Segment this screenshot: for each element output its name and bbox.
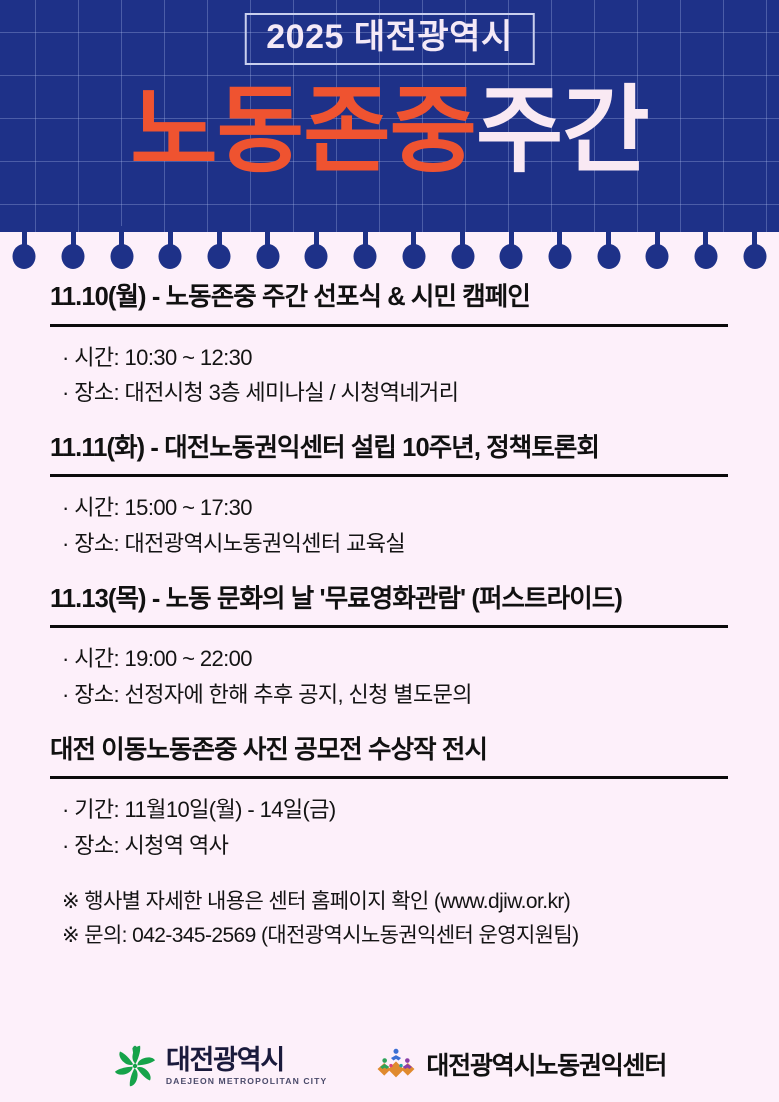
detail-line: · 장소: 시청역 역사 bbox=[62, 828, 779, 864]
divider bbox=[50, 625, 728, 628]
daejeon-logo-kr: 대전광역시 bbox=[166, 1047, 328, 1074]
divider bbox=[50, 474, 728, 477]
footnote-contact: ※ 문의: 042-345-2569 (대전광역시노동권익센터 운영지원팀) bbox=[62, 919, 779, 953]
schedule-heading: 11.11(화) - 대전노동권익센터 설립 10주년, 정책토론회 bbox=[50, 433, 779, 464]
detail-line: · 시간: 15:00 ~ 17:30 bbox=[62, 490, 779, 526]
schedule-block: 11.10(월) - 노동존중 주간 선포식 & 시민 캠페인 · 시간: 10… bbox=[0, 282, 779, 411]
daejeon-city-logo: 대전광역시 DAEJEON METROPOLITAN CITY bbox=[113, 1044, 328, 1088]
schedule-details: · 시간: 15:00 ~ 17:30 · 장소: 대전광역시노동권익센터 교육… bbox=[62, 490, 779, 561]
daejeon-logo-text: 대전광역시 DAEJEON METROPOLITAN CITY bbox=[166, 1047, 328, 1086]
footnote-website: ※ 행사별 자세한 내용은 센터 홈페이지 확인 (www.djiw.or.kr… bbox=[62, 885, 779, 919]
poster-header: 2025 대전광역시 노동존중주간 bbox=[0, 0, 779, 232]
daejeon-logo-en: DAEJEON METROPOLITAN CITY bbox=[166, 1077, 328, 1086]
detail-line: · 장소: 대전광역시노동권익센터 교육실 bbox=[62, 526, 779, 562]
schedule-details: · 시간: 19:00 ~ 22:00 · 장소: 선정자에 한해 추후 공지,… bbox=[62, 641, 779, 712]
detail-line: · 시간: 10:30 ~ 12:30 bbox=[62, 340, 779, 376]
detail-line: · 기간: 11월10일(월) - 14일(금) bbox=[62, 792, 779, 828]
schedule-block: 11.13(목) - 노동 문화의 날 '무료영화관람' (퍼스트라이드) · … bbox=[0, 584, 779, 713]
divider bbox=[50, 324, 728, 327]
detail-line: · 장소: 선정자에 한해 추후 공지, 신청 별도문의 bbox=[62, 677, 779, 713]
labor-center-people-icon bbox=[375, 1047, 417, 1085]
pin-row bbox=[0, 226, 779, 282]
footnotes: ※ 행사별 자세한 내용은 센터 홈페이지 확인 (www.djiw.or.kr… bbox=[62, 885, 779, 953]
main-title-part2: 주간 bbox=[476, 78, 649, 184]
labor-center-logo-text: 대전광역시노동권익센터 bbox=[426, 1054, 666, 1079]
divider bbox=[50, 776, 728, 779]
year-city-title: 2025 대전광역시 bbox=[266, 20, 512, 56]
main-title-part1: 노동존중 bbox=[130, 78, 476, 184]
schedule-block: 대전 이동노동존중 사진 공모전 수상작 전시 · 기간: 11월10일(월) … bbox=[0, 735, 779, 864]
main-title: 노동존중주간 bbox=[0, 78, 779, 184]
labor-center-logo-kr: 대전광역시노동권익센터 bbox=[426, 1054, 666, 1079]
schedule-details: · 시간: 10:30 ~ 12:30 · 장소: 대전시청 3층 세미나실 /… bbox=[62, 340, 779, 411]
detail-line: · 시간: 19:00 ~ 22:00 bbox=[62, 641, 779, 677]
schedule-list: 11.10(월) - 노동존중 주간 선포식 & 시민 캠페인 · 시간: 10… bbox=[0, 282, 779, 953]
footer-logos: 대전광역시 DAEJEON METROPOLITAN CITY bbox=[0, 1030, 779, 1102]
schedule-heading: 대전 이동노동존중 사진 공모전 수상작 전시 bbox=[50, 735, 779, 766]
detail-line: · 장소: 대전시청 3층 세미나실 / 시청역네거리 bbox=[62, 375, 779, 411]
schedule-heading: 11.10(월) - 노동존중 주간 선포식 & 시민 캠페인 bbox=[50, 282, 779, 313]
poster-root: 2025 대전광역시 노동존중주간 11.10(월) - 노동존중 주간 선포식… bbox=[0, 0, 779, 1102]
daejeon-flower-icon bbox=[113, 1044, 157, 1088]
year-city-title-box: 2025 대전광역시 bbox=[244, 13, 534, 65]
schedule-block: 11.11(화) - 대전노동권익센터 설립 10주년, 정책토론회 · 시간:… bbox=[0, 433, 779, 562]
schedule-heading: 11.13(목) - 노동 문화의 날 '무료영화관람' (퍼스트라이드) bbox=[50, 584, 779, 615]
labor-center-logo: 대전광역시노동권익센터 bbox=[375, 1047, 666, 1085]
schedule-details: · 기간: 11월10일(월) - 14일(금) · 장소: 시청역 역사 bbox=[62, 792, 779, 863]
